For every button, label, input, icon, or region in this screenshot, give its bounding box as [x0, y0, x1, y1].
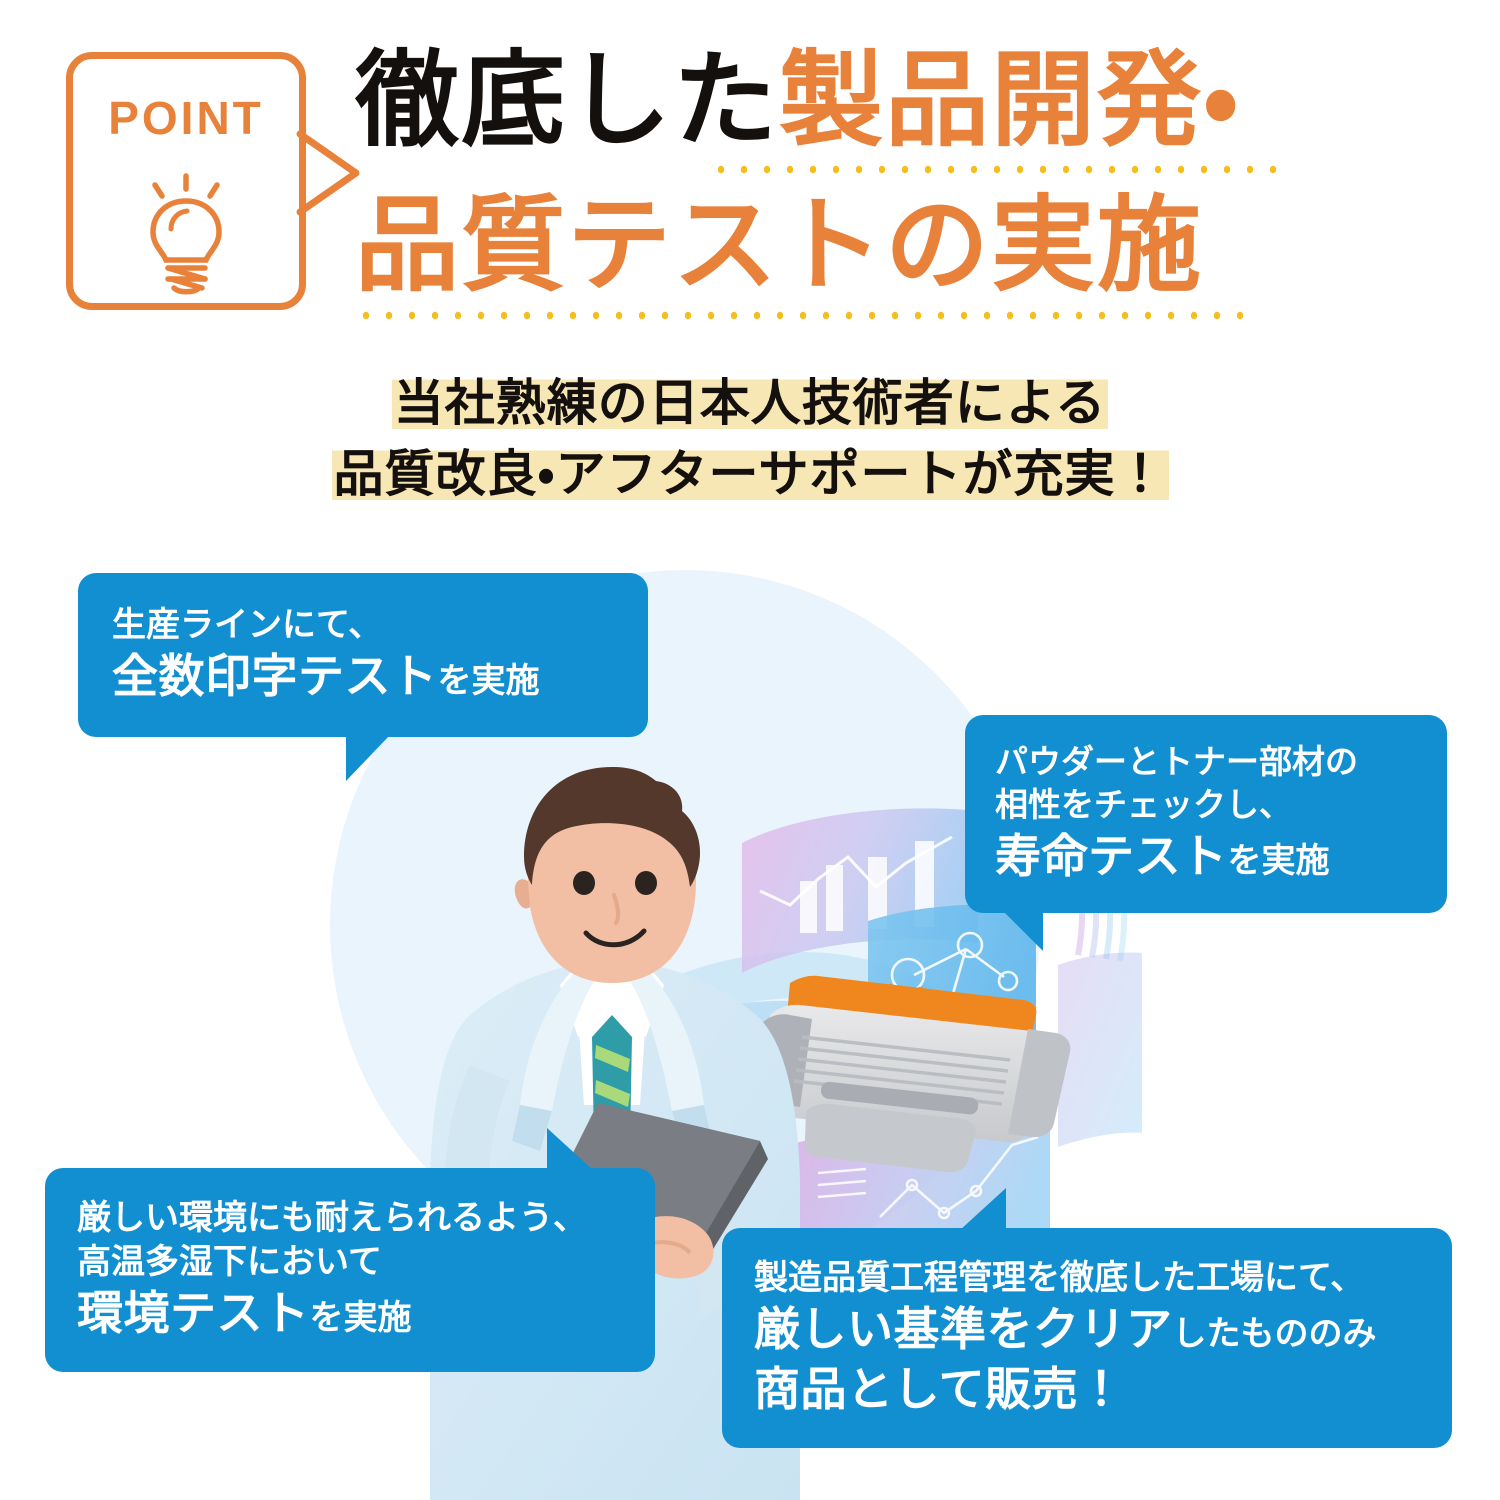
bubble-factory-standard-line-2: 厳しい基準をクリアしたもののみ: [754, 1300, 1420, 1360]
subheading-line-1-text: 当社熟練の日本人技術者による: [392, 375, 1109, 431]
subheading-line-2: 品質改良・アフターサポートが充実！: [0, 439, 1500, 510]
bubble-life-test-line-2: 相性をチェックし、: [995, 784, 1417, 827]
headline-line-1: 徹底した製品開発・: [355, 45, 1455, 157]
side-panel: [1058, 953, 1142, 1148]
subheading-line-1: 当社熟練の日本人技術者による: [0, 368, 1500, 439]
bubble-factory-standard-tail-icon: [960, 1188, 1006, 1230]
bubble-life-test-line-3: 寿命テストを実施: [995, 827, 1417, 887]
bubble-life-test-suffix: を実施: [1228, 842, 1330, 880]
bubble-environment-test-line-1: 厳しい環境にも耐えられるよう、: [77, 1196, 623, 1240]
bubble-environment-test-tail-icon: [547, 1128, 593, 1170]
bubble-life-test-line-1: パウダーとトナー部材の: [995, 741, 1417, 784]
bubble-life-test-tail-icon: [1003, 911, 1043, 951]
bubble-environment-test-line-2: 高温多湿下において: [77, 1240, 623, 1284]
bubble-factory-standard-line-3: 商品として販売！: [754, 1360, 1420, 1420]
point-badge-label: POINT: [73, 95, 299, 141]
headline-dot-underline-2: [355, 309, 1260, 322]
bubble-print-test-tail-icon: [346, 735, 390, 781]
infographic-page: POINT 徹底した製品開発・ 品質テストの実施 当社熟練の日本人: [0, 0, 1500, 1500]
point-badge: POINT: [66, 52, 306, 310]
bubble-factory-standard-line-1: 製造品質工程管理を徹底した工場にて、: [754, 1256, 1420, 1300]
headline-line-1-orange: 製品開発・: [779, 43, 1240, 159]
page-title: 徹底した製品開発・ 品質テストの実施: [355, 45, 1455, 322]
headline-dot-underline-1: [710, 163, 1285, 176]
headline-line-1-black: 徹底した: [355, 43, 779, 159]
bubble-factory-standard-emphasis: 厳しい基準をクリア: [754, 1303, 1173, 1355]
point-badge-tail-icon: [296, 130, 366, 216]
bubble-factory-standard: 製造品質工程管理を徹底した工場にて、 厳しい基準をクリアしたもののみ 商品として…: [722, 1228, 1452, 1448]
bubble-life-test-emphasis: 寿命テスト: [995, 830, 1228, 882]
bubble-print-test-suffix: を実施: [438, 662, 540, 700]
headline-line-2-orange: 品質テストの実施: [355, 188, 1203, 304]
bubble-print-test-line-1: 生産ラインにて、: [112, 603, 614, 647]
bubble-environment-test-line-3: 環境テストを実施: [77, 1284, 623, 1344]
bubble-factory-standard-suffix: したもののみ: [1173, 1315, 1377, 1353]
bubble-environment-test-emphasis: 環境テスト: [77, 1287, 310, 1339]
bubble-print-test-emphasis: 全数印字テスト: [112, 650, 438, 702]
headline-line-2: 品質テストの実施: [355, 190, 1455, 302]
bubble-print-test-line-2: 全数印字テストを実施: [112, 647, 614, 707]
subheading: 当社熟練の日本人技術者による 品質改良・アフターサポートが充実！: [0, 368, 1500, 510]
bubble-environment-test-suffix: を実施: [310, 1299, 412, 1337]
bubble-environment-test: 厳しい環境にも耐えられるよう、 高温多湿下において 環境テストを実施: [45, 1168, 655, 1372]
lightbulb-icon: [126, 167, 246, 297]
bubble-print-test: 生産ラインにて、 全数印字テストを実施: [78, 573, 648, 737]
subheading-line-2-text: 品質改良・アフターサポートが充実！: [332, 446, 1169, 502]
bubble-life-test: パウダーとトナー部材の 相性をチェックし、 寿命テストを実施: [965, 715, 1447, 913]
